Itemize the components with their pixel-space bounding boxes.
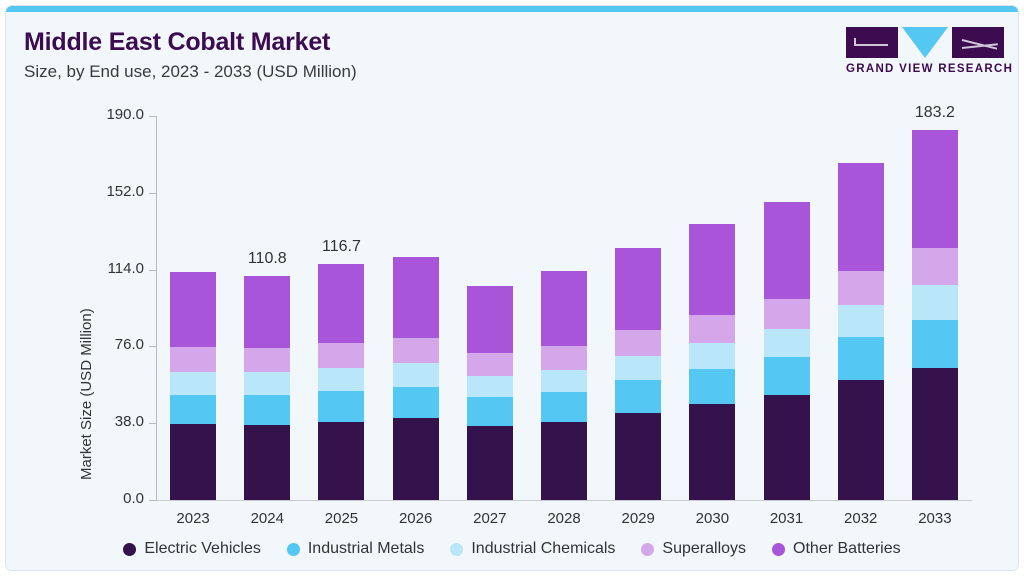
legend-swatch-icon <box>772 543 785 556</box>
bar-segment[interactable] <box>541 422 587 500</box>
bar-stack[interactable] <box>838 116 884 500</box>
bar-segment[interactable] <box>764 329 810 357</box>
bar-segment[interactable] <box>467 353 513 376</box>
bar-segment[interactable] <box>541 370 587 392</box>
bar-segment[interactable] <box>393 418 439 500</box>
bar-stack[interactable] <box>541 116 587 500</box>
bar-segment[interactable] <box>541 392 587 422</box>
x-axis-tick-label: 2031 <box>752 510 822 527</box>
bar-segment[interactable] <box>244 348 290 372</box>
bar-segment[interactable] <box>689 369 735 404</box>
y-axis-tick-label: 76.0 <box>64 336 144 353</box>
bar-segment[interactable] <box>689 315 735 343</box>
y-axis-tick-label: 114.0 <box>64 260 144 277</box>
y-axis-tick-label: 0.0 <box>64 490 144 507</box>
bar-segment[interactable] <box>318 343 364 368</box>
legend-label: Industrial Chemicals <box>471 540 615 558</box>
x-axis-tick-label: 2024 <box>232 510 302 527</box>
bar-segment[interactable] <box>615 380 661 413</box>
y-axis-tick <box>149 423 156 424</box>
bar-segment[interactable] <box>393 257 439 338</box>
legend-swatch-icon <box>641 543 654 556</box>
legend-label: Superalloys <box>662 540 746 558</box>
bar-segment[interactable] <box>838 380 884 500</box>
bar-stack[interactable] <box>318 116 364 500</box>
legend-label: Other Batteries <box>793 540 901 558</box>
bar-segment[interactable] <box>318 391 364 422</box>
bar-segment[interactable] <box>764 202 810 299</box>
bar-segment[interactable] <box>615 330 661 356</box>
bar-segment[interactable] <box>541 346 587 370</box>
bar-segment[interactable] <box>170 424 216 500</box>
legend-item-electric-vehicles[interactable]: Electric Vehicles <box>123 540 261 558</box>
x-axis-tick-label: 2029 <box>603 510 673 527</box>
x-axis-tick-label: 2028 <box>529 510 599 527</box>
bar-stack[interactable] <box>764 116 810 500</box>
bar-segment[interactable] <box>393 338 439 363</box>
bar-segment[interactable] <box>838 337 884 380</box>
legend-item-industrial-chemicals[interactable]: Industrial Chemicals <box>450 540 615 558</box>
bar-segment[interactable] <box>838 305 884 337</box>
bar-segment[interactable] <box>615 356 661 380</box>
bar-segment[interactable] <box>912 285 958 320</box>
bar-segment[interactable] <box>393 363 439 386</box>
bar-segment[interactable] <box>912 130 958 248</box>
bar-segment[interactable] <box>838 271 884 305</box>
bar-segment[interactable] <box>467 426 513 500</box>
bar-segment[interactable] <box>170 272 216 347</box>
y-axis-tick-label: 38.0 <box>64 413 144 430</box>
bar-segment[interactable] <box>615 248 661 330</box>
legend-swatch-icon <box>450 543 463 556</box>
bar-segment[interactable] <box>541 271 587 346</box>
chart-card: Middle East Cobalt Market Size, by End u… <box>6 6 1018 570</box>
bar-segment[interactable] <box>689 343 735 369</box>
bar-stack[interactable] <box>393 116 439 500</box>
x-axis-tick-label: 2027 <box>455 510 525 527</box>
bar-stack[interactable] <box>689 116 735 500</box>
legend-item-industrial-metals[interactable]: Industrial Metals <box>287 540 425 558</box>
x-axis-tick-label: 2023 <box>158 510 228 527</box>
y-axis-tick <box>149 346 156 347</box>
x-axis-tick-label: 2025 <box>306 510 376 527</box>
bar-segment[interactable] <box>244 372 290 394</box>
bar-segment[interactable] <box>170 372 216 395</box>
bar-segment[interactable] <box>912 320 958 369</box>
bar-segment[interactable] <box>764 395 810 500</box>
bar-stack[interactable] <box>467 116 513 500</box>
x-axis-tick-label: 2032 <box>826 510 896 527</box>
y-axis-tick <box>149 500 156 501</box>
bar-segment[interactable] <box>912 368 958 500</box>
chart-plot-area: Market Size (USD Million) 0.038.076.0114… <box>6 6 1018 570</box>
legend-swatch-icon <box>287 543 300 556</box>
bar-stack[interactable] <box>244 116 290 500</box>
bar-segment[interactable] <box>318 264 364 343</box>
bar-segment[interactable] <box>244 395 290 425</box>
legend-swatch-icon <box>123 543 136 556</box>
legend-label: Industrial Metals <box>308 540 425 558</box>
legend-item-superalloys[interactable]: Superalloys <box>641 540 746 558</box>
bar-segment[interactable] <box>615 413 661 500</box>
y-axis-line <box>156 116 157 500</box>
bar-segment[interactable] <box>838 163 884 271</box>
y-axis-tick <box>149 116 156 117</box>
bar-segment[interactable] <box>318 422 364 500</box>
y-axis-title: Market Size (USD Million) <box>78 308 95 480</box>
bar-segment[interactable] <box>244 425 290 500</box>
x-axis-tick-label: 2030 <box>677 510 747 527</box>
bar-segment[interactable] <box>244 276 290 348</box>
bar-segment[interactable] <box>764 357 810 395</box>
x-axis-line <box>156 500 972 501</box>
bar-segment[interactable] <box>467 286 513 353</box>
bar-segment[interactable] <box>764 299 810 329</box>
bar-segment[interactable] <box>467 397 513 425</box>
legend-label: Electric Vehicles <box>144 540 261 558</box>
bar-segment[interactable] <box>393 387 439 419</box>
bar-value-label: 116.7 <box>296 238 386 256</box>
bar-segment[interactable] <box>467 376 513 397</box>
bar-segment[interactable] <box>689 224 735 315</box>
bar-segment[interactable] <box>318 368 364 391</box>
bar-stack[interactable] <box>170 116 216 500</box>
legend-item-other-batteries[interactable]: Other Batteries <box>772 540 901 558</box>
bar-segment[interactable] <box>170 347 216 372</box>
chart-legend: Electric VehiclesIndustrial MetalsIndust… <box>6 540 1018 558</box>
y-axis-tick <box>149 193 156 194</box>
y-axis-tick-label: 152.0 <box>64 183 144 200</box>
bar-value-label: 183.2 <box>890 104 980 122</box>
x-axis-tick-label: 2026 <box>381 510 451 527</box>
y-axis-tick-label: 190.0 <box>64 106 144 123</box>
bar-segment[interactable] <box>912 248 958 285</box>
bar-stack[interactable] <box>912 116 958 500</box>
bar-stack[interactable] <box>615 116 661 500</box>
bar-segment[interactable] <box>689 404 735 500</box>
bar-segment[interactable] <box>170 395 216 424</box>
y-axis-tick <box>149 270 156 271</box>
x-axis-tick-label: 2033 <box>900 510 970 527</box>
